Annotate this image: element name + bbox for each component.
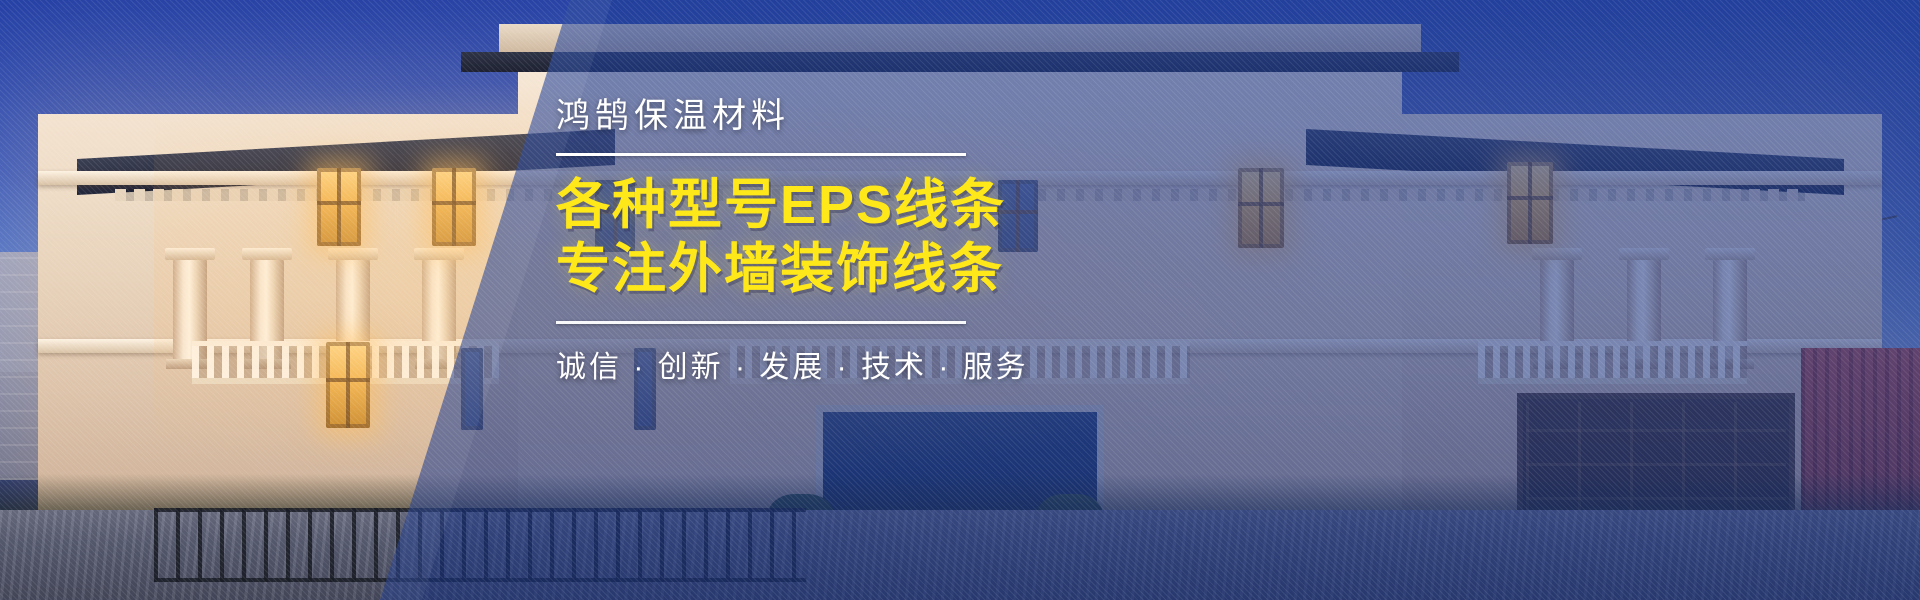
iron-fence (154, 508, 807, 582)
roof-pediment (499, 24, 1421, 54)
headline-line-1: 各种型号EPS线条 (556, 174, 1176, 238)
brand-name: 鸿鹄保温材料 (556, 96, 1176, 137)
window-lit (1238, 168, 1284, 248)
headline: 各种型号EPS线条 专注外墙装饰线条 (556, 174, 1176, 301)
slogan: 诚信 · 创新 · 发展 · 技术 · 服务 (556, 342, 1176, 386)
balustrade-right (1478, 341, 1747, 384)
divider-bottom (556, 321, 966, 324)
window-lit (432, 168, 476, 246)
window-lit (326, 342, 370, 428)
hero-banner: 鸿鹄保温材料 各种型号EPS线条 专注外墙装饰线条 诚信 · 创新 · 发展 ·… (0, 0, 1920, 600)
banner-content: 鸿鹄保温材料 各种型号EPS线条 专注外墙装饰线条 诚信 · 创新 · 发展 ·… (556, 96, 1176, 386)
headline-line-2: 专注外墙装饰线条 (556, 238, 1176, 302)
roof-pediment-shadow (461, 52, 1459, 72)
window-lit (317, 168, 361, 246)
window-lit (1507, 162, 1553, 244)
window-dark (461, 348, 483, 430)
divider-top (556, 153, 966, 156)
